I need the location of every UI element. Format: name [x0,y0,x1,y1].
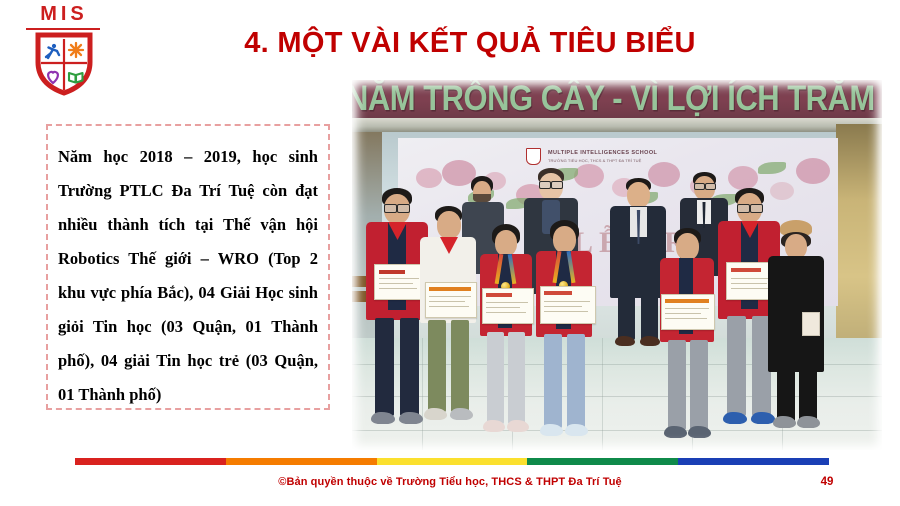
certificate [661,294,715,330]
color-segment-blue [678,458,829,465]
photo-backdrop-logo-title: MULTIPLE INTELLIGENCES SCHOOL [548,150,657,157]
content-textbox: Năm học 2018 – 2019, học sinh Trường PTL… [46,124,330,410]
photo-ceiling [352,118,882,132]
footer-color-bar [75,458,829,465]
photo-person-student [480,224,532,450]
photo-person-adult [768,220,824,442]
content-paragraph: Năm học 2018 – 2019, học sinh Trường PTL… [58,140,318,412]
slide-canvas: MIS [0,0,900,506]
footer-copyright: ©Bản quyền thuộc về Trường Tiểu học, THC… [0,476,900,488]
certificate [374,264,424,300]
flower-decor [574,164,604,188]
starburst-icon [69,43,83,57]
mis-logo: MIS [22,4,106,96]
award-ceremony-photo: NĂM TRỒNG CÂY - VÌ LỢI ÍCH TRĂM NĂM TRỒ … [352,80,882,450]
photo-person-student [660,228,714,450]
certificate [540,286,596,324]
color-segment-orange [226,458,377,465]
color-segment-yellow [377,458,528,465]
photo-person-adult [610,178,666,348]
page-title: 4. MỘT VÀI KẾT QUẢ TIÊU BIỂU [120,27,820,60]
certificate [425,282,477,318]
flower-decor [728,166,758,190]
flower-decor [796,158,830,184]
photo-scene: NĂM TRỒNG CÂY - VÌ LỢI ÍCH TRĂM NĂM TRỒ … [352,80,882,450]
mis-wordmark-underline [26,28,100,30]
footer-page-number: 49 [812,476,842,488]
color-segment-red [75,458,226,465]
photo-person-student [366,188,428,440]
leaf-decor [758,162,786,174]
mis-wordmark: MIS [22,4,106,24]
color-segment-green [527,458,678,465]
mis-shield-icon [35,32,93,96]
shield-svg [35,32,93,96]
photo-right-pillar [836,124,882,342]
photo-backdrop-shield-icon [526,148,541,165]
certificate [482,288,534,324]
photo-backdrop-logo: MULTIPLE INTELLIGENCES SCHOOL TRƯỜNG TIỂ… [548,150,657,164]
photo-person-student [420,206,476,444]
photo-banner-text: NĂM TRỒNG CÂY - VÌ LỢI ÍCH TRĂM NĂM TRỒ [352,80,882,119]
photo-banner: NĂM TRỒNG CÂY - VÌ LỢI ÍCH TRĂM NĂM TRỒ [352,80,882,118]
flower-decor [416,168,442,188]
photo-backdrop-logo-subtitle: TRƯỜNG TIỂU HỌC, THCS & THPT ĐA TRÍ TUỆ [548,157,657,164]
photo-person-student [536,220,592,450]
